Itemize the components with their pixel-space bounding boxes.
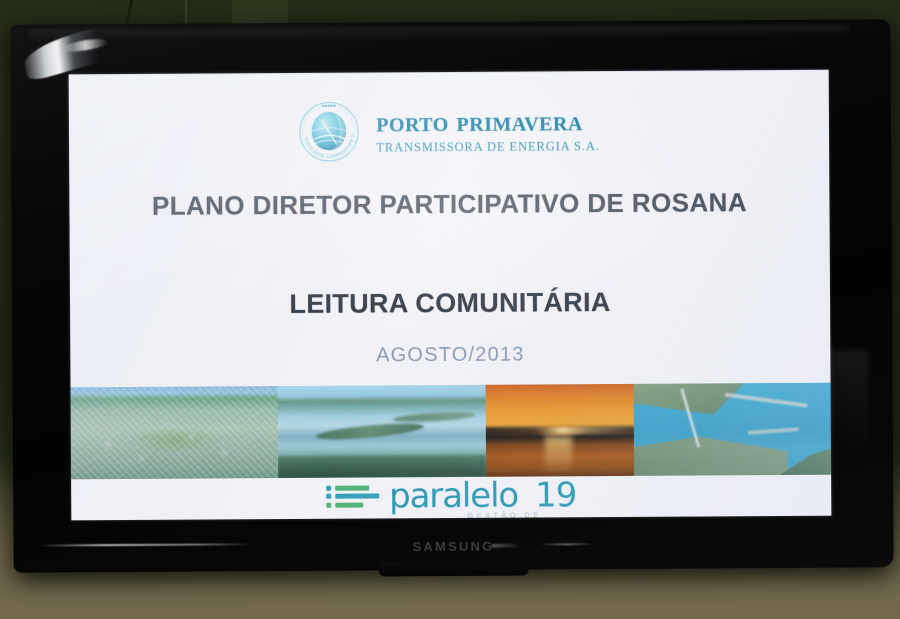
river-photo <box>278 385 486 478</box>
photo-scene: ◆◆◆◆◆ STATE GRID CORPORATION OF CHINA Po… <box>0 0 900 619</box>
svg-text:◆◆◆◆◆: ◆◆◆◆◆ <box>322 104 336 108</box>
tv-brand-logo: SAMSUNG <box>13 536 893 556</box>
slide-title-sub: LEITURA COMUNITÁRIA <box>70 286 830 322</box>
television: ◆◆◆◆◆ STATE GRID CORPORATION OF CHINA Po… <box>10 19 893 572</box>
paralelo-wordmark: paralelo <box>389 478 518 513</box>
paralelo-number: 19 <box>535 478 576 512</box>
slide-date: AGOSTO/2013 <box>70 342 830 370</box>
porto-primavera-globe-emblem: ◆◆◆◆◆ STATE GRID CORPORATION OF CHINA <box>298 101 360 163</box>
brand-text-block: Porto Primavera TRANSMISSORA DE ENERGIA … <box>376 107 600 154</box>
brand-name: Porto Primavera <box>376 107 600 137</box>
dam-photo <box>634 383 831 476</box>
slide-header: ◆◆◆◆◆ STATE GRID CORPORATION OF CHINA Po… <box>69 98 829 165</box>
bezel-gloss-top <box>28 25 848 42</box>
photo-strip <box>71 383 832 480</box>
tv-stand-neck <box>379 562 529 577</box>
aerial-city-photo <box>71 386 279 479</box>
slide-title-main: PLANO DIRETOR PARTICIPATIVO DE ROSANA <box>123 185 775 223</box>
slide-footer: paralelo 19 GESTÃO DE PROJETOS <box>71 475 831 521</box>
presentation-slide: ◆◆◆◆◆ STATE GRID CORPORATION OF CHINA Po… <box>69 70 832 521</box>
brand-subtitle: TRANSMISSORA DE ENERGIA S.A. <box>376 140 600 154</box>
paralelo-tagline: GESTÃO DE PROJETOS <box>467 510 576 521</box>
sunset-photo <box>485 384 634 477</box>
tv-screen: ◆◆◆◆◆ STATE GRID CORPORATION OF CHINA Po… <box>69 70 832 521</box>
paralelo-logo: paralelo 19 GESTÃO DE PROJETOS <box>326 478 577 514</box>
wall-cable <box>125 0 134 26</box>
paralelo-bars-mark <box>326 485 380 507</box>
